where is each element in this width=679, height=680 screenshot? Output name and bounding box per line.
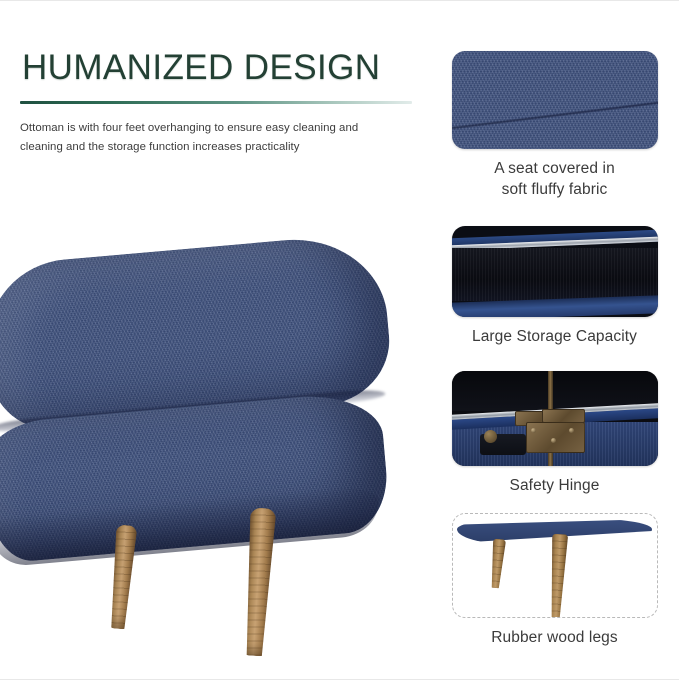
hinge-screw xyxy=(551,438,556,443)
feature-callout: Large Storage Capacity xyxy=(430,226,679,347)
callout-caption: Large Storage Capacity xyxy=(430,326,679,347)
callout-caption: A seat covered in soft fluffy fabric xyxy=(430,158,679,200)
hinge-screw xyxy=(531,428,536,433)
title-underline-rule xyxy=(20,101,412,104)
hinge-plate xyxy=(526,422,586,453)
hinge-screw xyxy=(569,428,574,433)
feature-callout: Safety Hinge xyxy=(430,371,679,496)
page-title: HUMANIZED DESIGN xyxy=(22,48,380,88)
storage-cavity xyxy=(452,248,658,301)
feature-callout-column: A seat covered in soft fluffy fabric Lar… xyxy=(430,1,679,680)
rubber-wood-legs-closeup-image xyxy=(452,513,658,618)
hinge-plate xyxy=(542,409,585,423)
hero-product-image xyxy=(0,229,420,649)
wood-grain-texture xyxy=(548,533,568,618)
wood-grain-texture xyxy=(489,538,506,588)
callout-caption: Rubber wood legs xyxy=(430,627,679,648)
fabric-seam-line xyxy=(452,99,658,130)
safety-hinge-closeup-image xyxy=(452,371,658,466)
legs-closeup-leg-right xyxy=(548,533,568,618)
description-text: Ottoman is with four feet overhanging to… xyxy=(20,119,398,157)
left-panel: HUMANIZED DESIGN Ottoman is with four fe… xyxy=(0,1,420,680)
callout-caption: Safety Hinge xyxy=(430,475,679,496)
storage-interior-closeup-image xyxy=(452,226,658,317)
fabric-seat-closeup-image xyxy=(452,51,658,149)
legs-closeup-leg-left xyxy=(489,538,506,588)
feature-callout: Rubber wood legs xyxy=(430,513,679,648)
callout-caption-line: soft fluffy fabric xyxy=(430,179,679,200)
product-infographic: HUMANIZED DESIGN Ottoman is with four fe… xyxy=(0,0,679,680)
callout-caption-line: A seat covered in xyxy=(430,158,679,179)
feature-callout: A seat covered in soft fluffy fabric xyxy=(430,51,679,200)
